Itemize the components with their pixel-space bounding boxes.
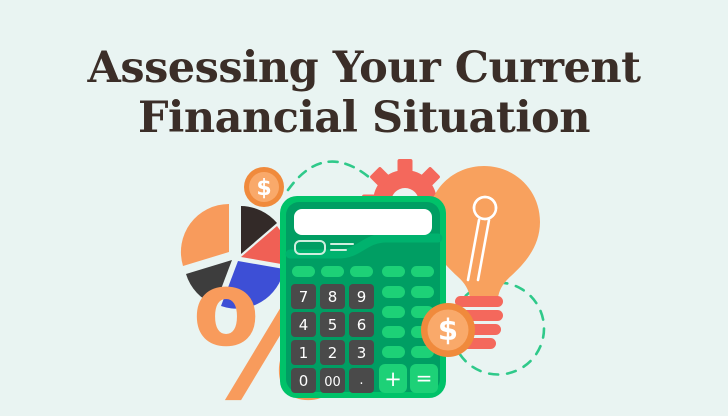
- calc-key-5: 5: [328, 316, 338, 334]
- calc-key-6: 6: [357, 316, 367, 334]
- calc-key-4: 4: [299, 316, 309, 334]
- calc-key-9: 9: [357, 288, 367, 306]
- calculator-function-keys-top: [292, 266, 434, 277]
- dashed-arc-top: [288, 162, 370, 190]
- dollar-coin-small: $: [244, 167, 284, 207]
- calc-key-8: 8: [328, 288, 338, 306]
- calculator: 7 8 9 4 5 6 1 2 3 0 00 .: [280, 196, 446, 398]
- calc-key-dot: .: [359, 373, 363, 388]
- calc-key-equals: =: [416, 366, 433, 390]
- financial-assessment-illustration: % $: [0, 130, 728, 416]
- calc-key-2: 2: [328, 344, 338, 362]
- page-title: Assessing Your Current Financial Situati…: [0, 43, 728, 143]
- calc-key-7: 7: [299, 288, 309, 306]
- dollar-coin-large: $: [421, 303, 475, 357]
- svg-text:$: $: [256, 176, 271, 201]
- calc-key-00: 00: [324, 375, 341, 390]
- calc-key-plus: +: [384, 367, 402, 391]
- calc-key-0: 0: [299, 372, 309, 390]
- calc-key-1: 1: [299, 344, 309, 362]
- svg-text:$: $: [438, 313, 458, 347]
- poster-canvas: Assessing Your Current Financial Situati…: [0, 0, 728, 416]
- calc-key-3: 3: [357, 344, 367, 362]
- page-title-line-1: Assessing Your Current: [0, 43, 728, 93]
